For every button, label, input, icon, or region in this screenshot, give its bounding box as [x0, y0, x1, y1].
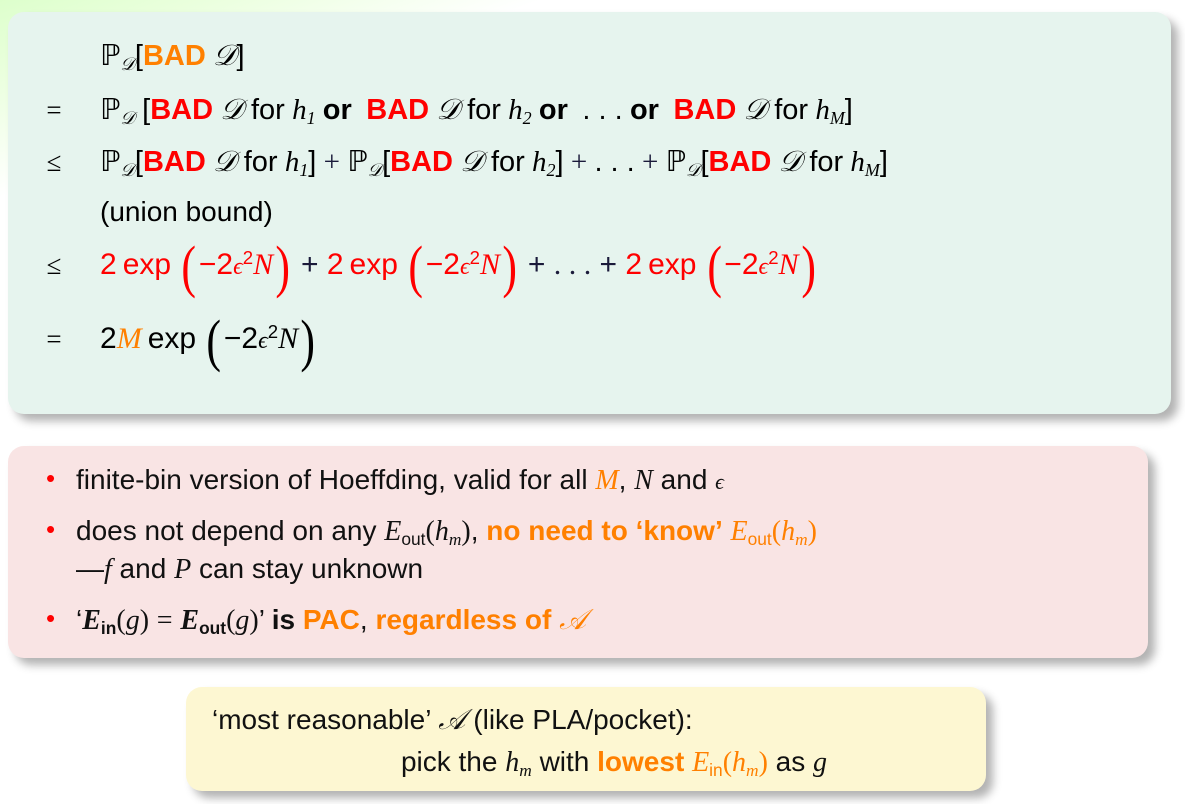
relation-symbol-2: = — [8, 95, 100, 126]
exponent-term: −2ϵ2N — [724, 248, 798, 281]
for-word: for — [809, 146, 843, 178]
bad-label: BAD — [673, 94, 736, 126]
or-word: or — [323, 94, 352, 126]
bullet-second-line: —f and P can stay unknown — [76, 553, 423, 584]
prob-symbol: ℙ — [347, 144, 367, 178]
bullet-dot-icon: • — [40, 513, 76, 546]
symbol-g: g — [126, 605, 140, 636]
dataset-symbol: 𝒟 — [220, 94, 243, 126]
right-bracket: ] — [556, 146, 564, 178]
right-bracket: ] — [308, 146, 316, 178]
or-word: or — [539, 94, 568, 126]
ellipsis: . . . — [582, 94, 622, 126]
subscript-in: in — [101, 618, 116, 638]
list-item: • ‘Ein(g) = Eout(g)’ is PAC, regardless … — [40, 602, 1150, 639]
symbol-g: g — [235, 605, 249, 636]
paren-close: ) — [140, 605, 149, 636]
hypothesis-index-2: 2 — [547, 160, 556, 180]
prob-subscript: 𝒟 — [368, 160, 383, 180]
prob-symbol: ℙ — [100, 92, 120, 126]
hypothesis-index-M: M — [865, 160, 880, 180]
emphasis-lowest: lowest — [597, 746, 684, 777]
plus-sign: + — [600, 248, 618, 281]
left-bracket: [ — [135, 146, 143, 178]
bad-label: BAD — [366, 94, 429, 126]
left-bracket: [ — [142, 94, 150, 126]
prob-subscript: 𝒟 — [120, 108, 135, 128]
dataset-symbol: 𝒟 — [460, 146, 483, 178]
bad-label: BAD — [390, 146, 453, 178]
for-word: for — [774, 94, 808, 126]
left-bracket: [ — [382, 146, 390, 178]
derivation-expression-6: 2M exp (−2ϵ2N) — [100, 322, 1171, 356]
symbol-M: M — [595, 465, 618, 496]
remark-line-2: pick the hm with lowest Ein(hm) as g — [186, 742, 986, 783]
bad-label: BAD — [143, 40, 206, 72]
ellipsis: . . . — [594, 146, 634, 178]
relation-symbol-6: = — [8, 324, 100, 355]
hypothesis-index-1: 1 — [307, 108, 316, 128]
prob-symbol: ℙ — [666, 144, 686, 178]
symbol-Eout-orange: Eout(hm) — [731, 515, 817, 546]
for-word: for — [251, 94, 285, 126]
is-word: is — [272, 604, 295, 635]
hypothesis-index-2: 2 — [523, 108, 532, 128]
exp-word: exp — [117, 248, 171, 281]
subscript-out: out — [199, 618, 226, 638]
bullet-prefix: finite-bin version of Hoeffding, valid f… — [76, 464, 595, 495]
plus-sign: + — [301, 248, 319, 281]
subscript-out: out — [401, 529, 425, 549]
hypothesis-index-M: M — [830, 108, 845, 128]
symbol-algorithm-A: 𝒜 — [438, 705, 465, 736]
paren-close: ) — [461, 516, 470, 547]
symbol-Eout: E — [384, 516, 401, 547]
quote-close: ’ — [259, 604, 264, 635]
and-word: and — [661, 464, 708, 495]
right-bracket: ] — [845, 94, 853, 126]
subscript-m: m — [449, 530, 462, 549]
symbol-g: g — [813, 747, 827, 778]
most-reasonable-label: ‘most reasonable’ — [212, 704, 430, 735]
exponent-term: −2ϵ2N — [199, 248, 273, 281]
prob-subscript: 𝒟 — [120, 54, 135, 74]
symbol-Ein: E — [82, 605, 101, 636]
for-word: for — [467, 94, 501, 126]
derivation-expression-1: ℙ𝒟[BAD 𝒟] — [100, 38, 1171, 73]
derivation-row-2: = ℙ𝒟 [BAD 𝒟 for h1 or BAD 𝒟 for h2 or . … — [8, 92, 1171, 144]
notes-bullet-list: • finite-bin version of Hoeffding, valid… — [40, 462, 1150, 654]
symbol-Eout: E — [180, 605, 199, 636]
dataset-symbol: 𝒟 — [213, 146, 236, 178]
with-label: with — [540, 746, 590, 777]
prob-subscript: 𝒟 — [120, 160, 135, 180]
left-bracket: [ — [700, 146, 708, 178]
symbol-h: h — [435, 516, 449, 547]
paren-open: ( — [426, 516, 435, 547]
as-label: as — [776, 746, 806, 777]
hypothesis-hM: h — [850, 146, 865, 178]
coefficient-two: 2 — [625, 248, 642, 281]
coefficient-two: 2 — [327, 248, 344, 281]
exponent-term: −2ϵ2N — [224, 322, 298, 355]
derivation-row-5: ≤ 2 exp (−2ϵ2N) + 2 exp (−2ϵ2N) + . . . … — [8, 248, 1171, 322]
hypothesis-h1: h — [285, 146, 300, 178]
bad-label: BAD — [143, 146, 206, 178]
symbol-Ein-orange: Ein(hm) — [692, 746, 768, 777]
bullet-prefix: does not depend on any — [76, 515, 384, 546]
emphasis-no-need-to-know: no need to ‘know’ — [486, 515, 722, 546]
subscript-m: m — [519, 760, 532, 779]
bullet-finite-bin-text: finite-bin version of Hoeffding, valid f… — [76, 462, 1150, 499]
comma: , — [471, 515, 479, 546]
bad-label: BAD — [709, 146, 772, 178]
ellipsis: . . . — [554, 248, 592, 281]
right-bracket: ] — [236, 40, 244, 72]
bullet-dot-icon: • — [40, 462, 76, 495]
bullet-dot-icon: • — [40, 602, 76, 635]
derivation-rows: ℙ𝒟[BAD 𝒟] = ℙ𝒟 [BAD 𝒟 for h1 or BAD 𝒟 fo… — [8, 12, 1171, 396]
bullet-pac-text: ‘Ein(g) = Eout(g)’ is PAC, regardless of… — [76, 602, 1150, 639]
derivation-box: ℙ𝒟[BAD 𝒟] = ℙ𝒟 [BAD 𝒟 for h1 or BAD 𝒟 fo… — [8, 12, 1171, 414]
derivation-row-1: ℙ𝒟[BAD 𝒟] — [8, 38, 1171, 90]
right-bracket: ] — [880, 146, 888, 178]
slide: ℙ𝒟[BAD 𝒟] = ℙ𝒟 [BAD 𝒟 for h1 or BAD 𝒟 fo… — [0, 0, 1185, 804]
hypothesis-h1: h — [292, 94, 307, 126]
derivation-row-6: = 2M exp (−2ϵ2N) — [8, 322, 1171, 396]
dataset-symbol: 𝒟 — [213, 40, 236, 72]
plus-sign: + — [642, 146, 658, 178]
hypothesis-index-1: 1 — [299, 160, 308, 180]
prob-symbol: ℙ — [100, 38, 120, 72]
remark-line-1: ‘most reasonable’ 𝒜 (like PLA/pocket): — [186, 700, 986, 742]
exp-word: exp — [142, 322, 196, 355]
or-word: or — [630, 94, 659, 126]
union-bound-note: (union bound) — [100, 196, 1171, 228]
plus-sign: + — [528, 248, 546, 281]
comma: , — [360, 604, 368, 635]
comma: , — [619, 464, 627, 495]
hypothesis-hM: h — [815, 94, 830, 126]
derivation-expression-2: ℙ𝒟 [BAD 𝒟 for h1 or BAD 𝒟 for h2 or . . … — [100, 92, 1171, 127]
for-word: for — [244, 146, 278, 178]
dataset-symbol: 𝒟 — [779, 146, 802, 178]
coefficient-two: 2 — [100, 248, 117, 281]
derivation-expression-3: ℙ𝒟[BAD 𝒟 for h1] + ℙ𝒟[BAD 𝒟 for h2] + . … — [100, 144, 1171, 179]
derivation-expression-5: 2 exp (−2ϵ2N) + 2 exp (−2ϵ2N) + . . . + … — [100, 248, 1171, 282]
exponent-term: −2ϵ2N — [426, 248, 500, 281]
pick-the-label: pick the — [401, 746, 498, 777]
hypothesis-count-M: M — [117, 322, 142, 355]
bad-label: BAD — [150, 94, 213, 126]
symbol-N: N — [634, 465, 653, 496]
hypothesis-h2: h — [508, 94, 523, 126]
exp-word: exp — [642, 248, 696, 281]
remark-text: ‘most reasonable’ 𝒜 (like PLA/pocket): p… — [186, 700, 986, 782]
prob-subscript: 𝒟 — [686, 160, 701, 180]
emphasis-regardless-of: regardless of — [375, 604, 551, 635]
list-item: • does not depend on any Eout(hm), no ne… — [40, 513, 1150, 588]
relation-symbol-5: ≤ — [8, 250, 100, 281]
symbol-epsilon: ϵ — [715, 470, 724, 494]
paren-open: ( — [226, 605, 235, 636]
derivation-row-3: ≤ ℙ𝒟[BAD 𝒟 for h1] + ℙ𝒟[BAD 𝒟 for h2] + … — [8, 144, 1171, 196]
dataset-symbol: 𝒟 — [436, 94, 459, 126]
exp-word: exp — [344, 248, 398, 281]
like-pla-label: (like PLA/pocket): — [473, 704, 692, 735]
paren-open: ( — [116, 605, 125, 636]
plus-sign: + — [571, 146, 587, 178]
list-item: • finite-bin version of Hoeffding, valid… — [40, 462, 1150, 499]
hypothesis-h2: h — [532, 146, 547, 178]
plus-sign: + — [324, 146, 340, 178]
dataset-symbol: 𝒟 — [744, 94, 767, 126]
paren-close: ) — [249, 605, 258, 636]
symbol-algorithm-A: 𝒜 — [559, 605, 586, 636]
bullet-no-need-text: does not depend on any Eout(hm), no need… — [76, 513, 1150, 588]
left-bracket: [ — [135, 40, 143, 72]
coefficient-two: 2 — [100, 322, 117, 355]
for-word: for — [491, 146, 525, 178]
prob-symbol: ℙ — [100, 144, 120, 178]
relation-symbol-3: ≤ — [8, 147, 100, 178]
equals-sign: = — [157, 605, 173, 636]
symbol-h: h — [505, 747, 519, 778]
emphasis-pac: PAC — [303, 604, 360, 635]
